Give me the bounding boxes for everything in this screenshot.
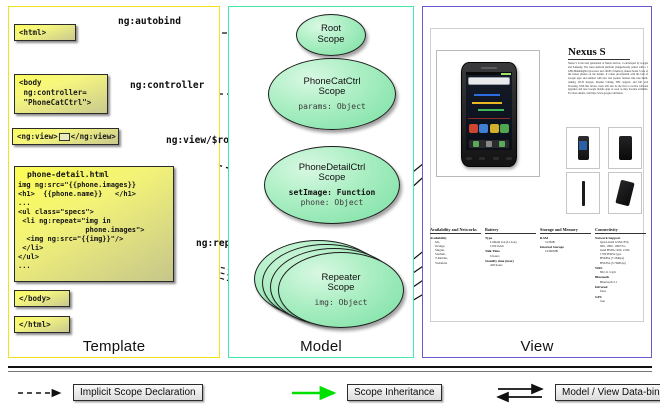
spec-value: 802.11 b/g/n: [600, 270, 646, 274]
scope-phonedetail-props: setImage: Function phone: Object: [289, 188, 376, 207]
ngview-slot-icon: [59, 133, 70, 141]
connector-label-controller: ng:controller: [130, 80, 204, 91]
product-title: Nexus S: [568, 46, 606, 58]
spec-column-0: Availability and NetworksAvailabilityM1,…: [430, 228, 481, 303]
spec-column-header: Availability and Networks: [430, 228, 481, 234]
phone-app-icon-3: [490, 124, 499, 133]
spec-value: 16366MB: [545, 249, 591, 253]
spec-column-2: Storage and MemoryRAM512MBInternal Stora…: [540, 228, 591, 303]
scope-phonedetail-title-line2: Scope: [319, 172, 346, 183]
phone-button-home: [493, 157, 499, 160]
panel-label-template: Template: [9, 338, 219, 355]
phone-speaker: [481, 67, 497, 69]
spec-columns: Availability and NetworksAvailabilityM1,…: [430, 228, 646, 303]
phone-button-back: [466, 157, 472, 160]
thumbnail-phone-angled[interactable]: [608, 172, 642, 214]
scope-phonedetailctrl: PhoneDetailCtrl Scope setImage: Function…: [264, 146, 400, 224]
callout-filename: phone-detail.html: [15, 167, 173, 181]
scope-phonedetail-prop-phone: phone: Object: [301, 198, 364, 207]
phone-widget-line-blue: [474, 94, 500, 96]
legend-item-implicit-scope-declaration: Implicit Scope Declaration: [18, 384, 203, 401]
spec-value: HSUPA (5.76Mbps): [600, 261, 646, 265]
legend-divider: [8, 366, 652, 372]
spec-value: 6 hours: [490, 254, 536, 258]
phone-hardware-buttons: [462, 152, 516, 164]
phone-dock-icon-2: [486, 141, 492, 147]
scope-phonecat-title-line2: Scope: [319, 86, 346, 97]
scope-phonecat-title-line1: PhoneCatCtrl: [303, 76, 360, 87]
phone-button-search: [506, 157, 512, 160]
spec-column-header: Battery: [485, 228, 536, 234]
tag-body-open: <body ng:controller= "PhoneCatCtrl">: [14, 74, 108, 114]
phone-app-icon-1: [469, 124, 478, 133]
phone-widget-line-green: [478, 109, 504, 111]
phone-status-icons: [501, 73, 511, 75]
scope-phonedetail-title: PhoneDetailCtrl Scope: [299, 163, 366, 184]
phone-widget-line-yellow: [472, 102, 502, 104]
product-description: Nexus S is the next generation of Nexus …: [568, 62, 648, 118]
scope-repeater-prop: img: Object: [315, 298, 368, 308]
connector-label-autobind: ng:autobind: [118, 16, 181, 27]
thumb-image-3: [582, 181, 585, 206]
phone-button-menu: [479, 157, 485, 160]
spec-value: 428 hours: [490, 263, 536, 267]
tag-html-open: <html>: [14, 24, 76, 41]
scope-phonecatctrl: PhoneCatCtrl Scope params: Object: [268, 58, 396, 130]
thumbnail-phone-front[interactable]: [566, 127, 600, 169]
ngview-open-text: <ng:view>: [17, 132, 58, 141]
spec-value: Bluetooth 2.1: [600, 280, 646, 284]
scope-phonedetail-prop-setimage: setImage: Function: [289, 188, 376, 197]
panel-label-view: View: [423, 338, 651, 355]
phone-dock-icon-1: [473, 141, 479, 147]
spec-table: Availability and NetworksAvailabilityM1,…: [430, 228, 646, 322]
spec-value: 1500 mAh: [490, 244, 536, 248]
tag-ngview: <ng:view></ng:view>: [12, 128, 119, 145]
panel-label-model: Model: [229, 338, 413, 355]
legend-label-scope-inheritance: Scope Inheritance: [347, 384, 442, 401]
scope-repeater-title: Repeater Scope: [321, 273, 360, 294]
phone-app-icon-4: [500, 124, 509, 133]
thumb-image-2: [619, 136, 632, 160]
spec-value: true: [600, 299, 646, 303]
phone-screen: [466, 72, 512, 150]
scope-repeater-title-line2: Scope: [328, 282, 355, 293]
tag-body-close: </body>: [14, 290, 70, 307]
legend-label-model-view-data-binding: Model / View Data-binding: [555, 384, 660, 401]
spec-column-header: Connectivity: [595, 228, 646, 234]
phone-dock-icon-3: [499, 141, 505, 147]
phone-search-widget: [468, 77, 510, 85]
thumb-image-1: [578, 136, 589, 160]
scope-root-title: Root Scope: [318, 24, 345, 45]
scope-root-title-line2: Scope: [318, 34, 345, 45]
spec-column-header: Storage and Memory: [540, 228, 591, 234]
scope-phonecat-prop: params: Object: [298, 102, 365, 112]
spec-column-1: BatteryTypeLithium Ion (Li-Ion)1500 mAhT…: [485, 228, 536, 303]
scope-repeater-title-line1: Repeater: [321, 272, 360, 283]
legend-label-implicit-scope-declaration: Implicit Scope Declaration: [73, 384, 203, 401]
spec-column-3: ConnectivityNetwork SupportQuad-band GSM…: [595, 228, 646, 303]
phone-divider: [468, 118, 510, 119]
legend-item-model-view-data-binding: Model / View Data-binding: [498, 384, 660, 401]
legend-item-scope-inheritance: Scope Inheritance: [292, 384, 442, 401]
thumb-image-4: [615, 180, 634, 207]
scope-phonecat-title: PhoneCatCtrl Scope: [303, 77, 360, 98]
scope-phonedetail-title-line1: PhoneDetailCtrl: [299, 162, 366, 173]
scope-root: Root Scope: [296, 14, 366, 56]
thumbnail-phone-side[interactable]: [566, 172, 600, 214]
spec-value: Vodafone: [435, 261, 481, 265]
phone-dock: [469, 140, 509, 148]
tag-html-close: </html>: [14, 316, 70, 333]
phone-app-icon-row: [469, 124, 509, 133]
ngview-close-text: </ng:view>: [71, 132, 116, 141]
callout-code: img ng:src="{{phone.images}} <h1> {{phon…: [15, 181, 173, 271]
phone-device-image: [461, 62, 517, 167]
thumbnail-phone-back[interactable]: [608, 127, 642, 169]
spec-value: false: [600, 289, 646, 293]
scope-root-title-line1: Root: [321, 23, 341, 34]
phone-app-icon-2: [479, 124, 488, 133]
scope-repeater: Repeater Scope img: Object: [278, 252, 404, 328]
spec-value: 512MB: [545, 240, 591, 244]
template-callout: phone-detail.html img ng:src="{{phone.im…: [14, 166, 174, 282]
phone-statusbar: [466, 72, 512, 75]
